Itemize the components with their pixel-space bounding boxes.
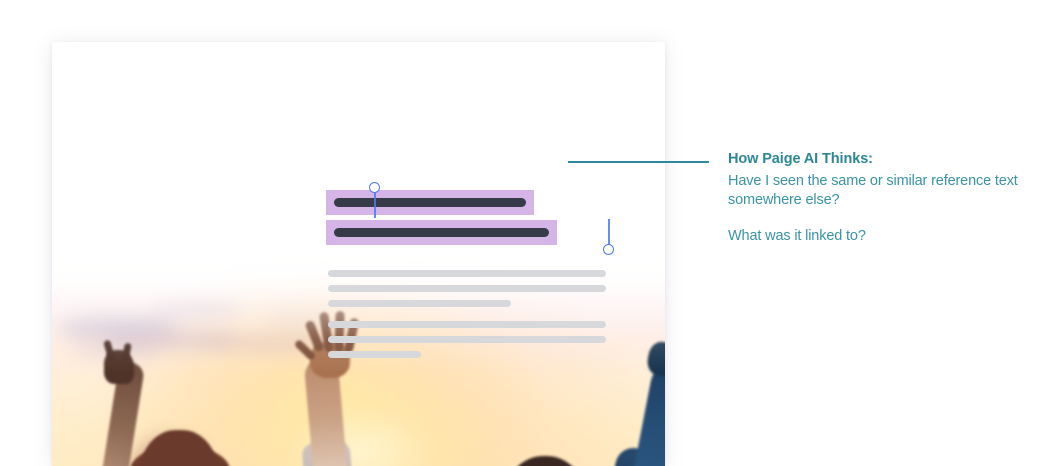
selection-end-handle-icon[interactable] — [603, 244, 614, 255]
reference-text-bar — [334, 228, 549, 237]
annotation-callout: How Paige AI Thinks: Have I seen the sam… — [728, 150, 1028, 246]
annotation-paragraph-2: What was it linked to? — [728, 227, 1028, 246]
placeholder-text-line — [328, 285, 606, 292]
placeholder-text-line — [328, 300, 511, 307]
selection-start-handle-icon[interactable] — [369, 182, 380, 193]
placeholder-text-line — [328, 270, 606, 277]
reference-text-bar — [334, 198, 526, 207]
highlighted-reference-line-2[interactable] — [326, 220, 557, 245]
placeholder-text-line — [328, 336, 606, 343]
document-preview-card — [52, 42, 665, 466]
selection-end-stem — [608, 219, 610, 245]
placeholder-text-line — [328, 351, 421, 358]
highlighted-reference-line-1[interactable] — [326, 190, 534, 215]
annotation-title: How Paige AI Thinks: — [728, 150, 1028, 169]
document-body — [52, 42, 665, 466]
annotation-paragraph-1: Have I seen the same or similar referenc… — [728, 172, 1028, 210]
annotation-connector-line — [568, 161, 709, 163]
placeholder-text-line — [328, 321, 606, 328]
selection-start-stem — [374, 192, 376, 218]
